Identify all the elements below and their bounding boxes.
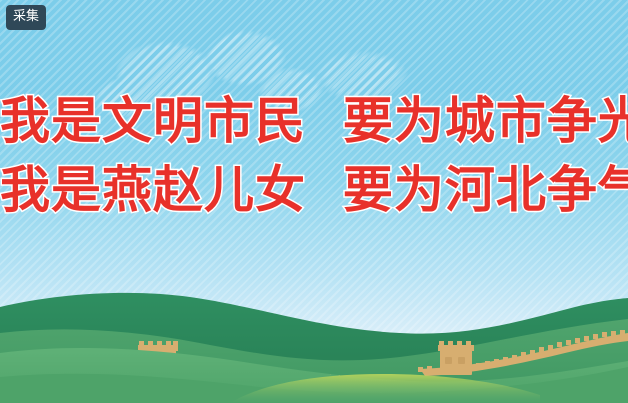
slogan-line-1: 我是文明市民 要为城市争光 — [0, 92, 628, 151]
slogan-line-2: 我是燕赵儿女 要为河北争气 — [0, 161, 628, 220]
banner-screenshot: 我是文明市民 要为城市争光 我是燕赵儿女 要为河北争气 采集 — [0, 0, 628, 403]
slogan-text: 我是文明市民 要为城市争光 我是燕赵儿女 要为河北争气 — [0, 92, 628, 220]
landscape-illustration — [0, 245, 628, 403]
great-wall-right-tower — [440, 349, 472, 375]
capture-button[interactable]: 采集 — [6, 5, 46, 30]
